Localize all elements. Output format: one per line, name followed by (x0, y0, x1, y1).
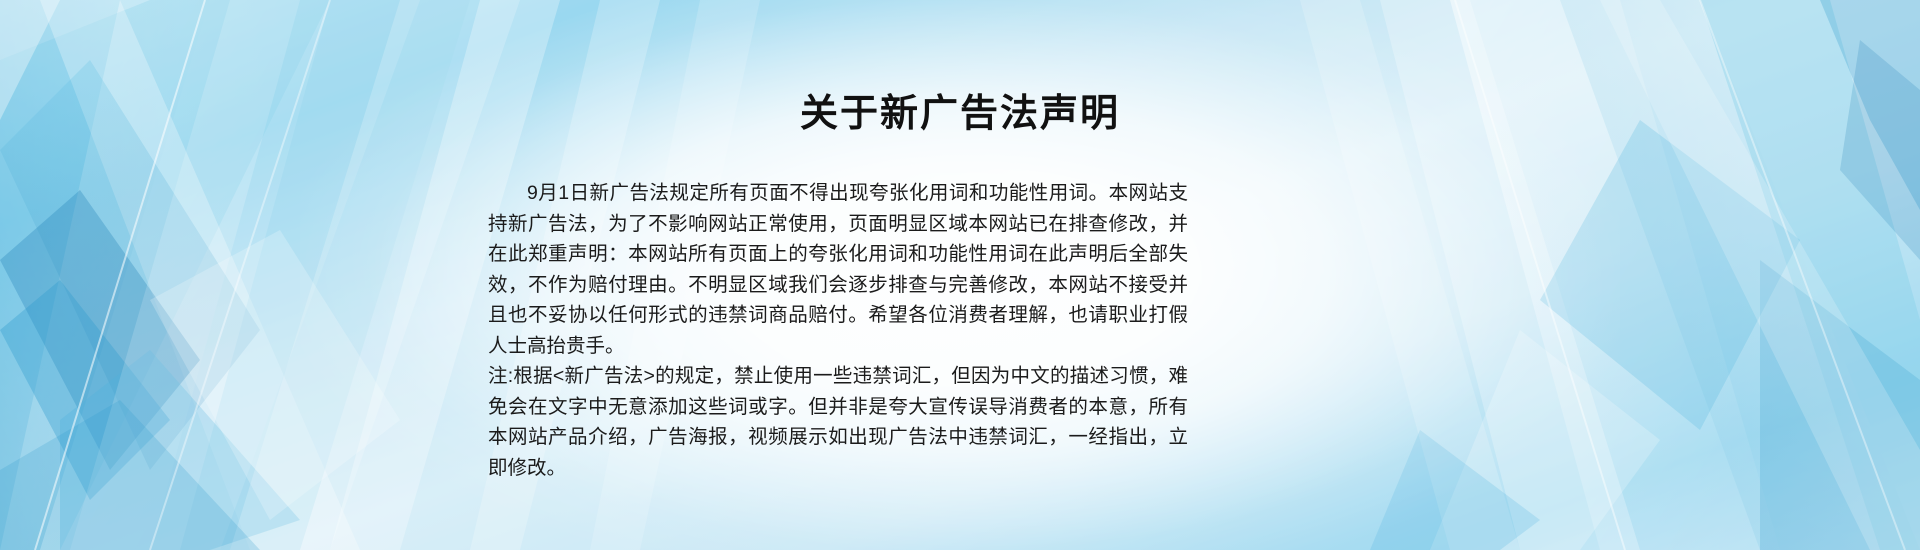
statement-paragraph-2: 注:根据<新广告法>的规定，禁止使用一些违禁词汇，但因为中文的描述习惯，难免会在… (488, 361, 1188, 483)
statement-body: 9月1日新广告法规定所有页面不得出现夸张化用词和功能性用词。本网站支持新广告法，… (488, 178, 1188, 483)
page-title: 关于新广告法声明 (0, 90, 1920, 139)
banner-content: 关于新广告法声明 9月1日新广告法规定所有页面不得出现夸张化用词和功能性用词。本… (0, 0, 1920, 550)
advertising-law-statement-banner: 关于新广告法声明 9月1日新广告法规定所有页面不得出现夸张化用词和功能性用词。本… (0, 0, 1920, 550)
statement-paragraph-1: 9月1日新广告法规定所有页面不得出现夸张化用词和功能性用词。本网站支持新广告法，… (488, 178, 1188, 361)
